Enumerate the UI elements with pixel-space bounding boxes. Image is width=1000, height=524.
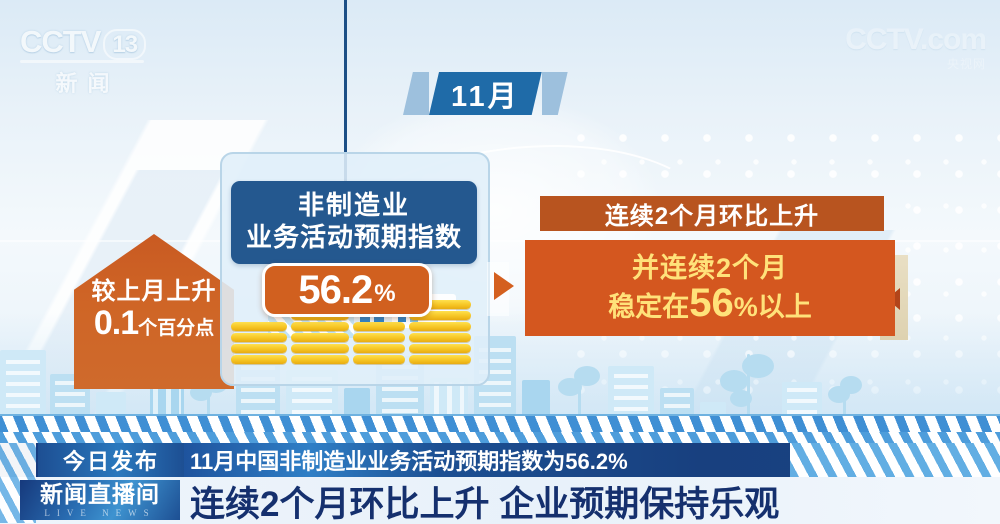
coin-stack (353, 322, 405, 364)
index-value: 56.2 (298, 270, 372, 310)
cctv-logo-text: CCTV (20, 24, 100, 59)
coin-stack (231, 322, 287, 364)
banner-main: 并连续2个月 稳定在56%以上 (525, 240, 895, 336)
lower-third-subheadline-tail (790, 443, 1000, 477)
increase-arrow-value: 0.1 (94, 304, 138, 342)
index-value-badge: 56.2% (262, 263, 432, 317)
tag-today-label: 今日发布 (63, 444, 159, 476)
increase-arrow-line1: 较上月上升 (74, 271, 234, 306)
coin (353, 322, 405, 331)
banner-main-percent: % (734, 292, 758, 322)
coin (231, 322, 287, 331)
right-arrow-icon (494, 272, 514, 300)
cctv-logo-subtitle: 新闻 (20, 66, 155, 98)
broadcast-frame: CCTV13 新闻 CCTV.com 央视网 11月 较上月上升 0.1个百分点 (0, 0, 1000, 524)
month-tab-wing-left (403, 72, 429, 115)
cctv-logo-underline (20, 60, 144, 63)
banner-main-prefix: 稳定在 (608, 292, 689, 322)
index-card-header: 非制造业 业务活动预期指数 (231, 181, 477, 264)
coin (353, 333, 405, 342)
coin (409, 355, 471, 364)
headline-sub-text: 11月中国非制造业业务活动预期指数为56.2% (190, 444, 628, 476)
watermark-main: CCTV.com (845, 26, 986, 55)
banner-main-line2: 稳定在56%以上 (608, 283, 812, 323)
headline-sub: 11月中国非制造业业务活动预期指数为56.2% (190, 443, 628, 477)
coin (409, 322, 471, 331)
headline-main-text: 连续2个月环比上升 企业预期保持乐观 (190, 476, 779, 524)
headline-main: 连续2个月环比上升 企业预期保持乐观 (190, 478, 779, 524)
index-card-title-line2: 业务活动预期指数 (231, 222, 477, 254)
cctv-logo: CCTV13 新闻 (20, 26, 155, 84)
cctv-watermark: CCTV.com 央视网 (845, 26, 986, 72)
banner-top-text: 连续2个月环比上升 (605, 196, 819, 231)
index-card-title-line1: 非制造业 (231, 190, 477, 222)
month-tab-wing-right (542, 72, 568, 115)
coin (231, 344, 287, 353)
tag-live-label-cn: 新闻直播间 (40, 483, 160, 506)
banner-main-suffix: 以上 (758, 292, 812, 322)
banner-main-value: 56 (689, 283, 734, 323)
coin (291, 333, 349, 342)
increase-arrow-value-row: 0.1个百分点 (74, 304, 234, 343)
coin (353, 355, 405, 364)
coin-stack (291, 311, 349, 364)
banner-main-line1: 并连续2个月 (632, 253, 788, 283)
month-tab-body: 11月 (429, 72, 542, 115)
coin (291, 322, 349, 331)
cctv-logo-number: 13 (103, 29, 146, 60)
tag-live-program: 新闻直播间 LIVE NEWS (20, 480, 180, 520)
watermark-sub: 央视网 (845, 55, 986, 72)
coin (409, 344, 471, 353)
lower-third: 今日发布 11月中国非制造业业务活动预期指数为56.2% 新闻直播间 LIVE … (0, 432, 1000, 524)
tag-today: 今日发布 (38, 443, 184, 477)
tag-live-label-en: LIVE NEWS (44, 508, 155, 518)
coin (231, 333, 287, 342)
coin (231, 355, 287, 364)
coin (353, 344, 405, 353)
index-value-symbol: % (374, 282, 395, 306)
banner-top: 连续2个月环比上升 (540, 196, 884, 231)
increase-arrow-unit: 个百分点 (138, 318, 214, 339)
coin (291, 355, 349, 364)
coin (291, 344, 349, 353)
month-tab: 11月 (403, 72, 568, 115)
coin (409, 333, 471, 342)
month-tab-label: 11月 (451, 73, 520, 115)
